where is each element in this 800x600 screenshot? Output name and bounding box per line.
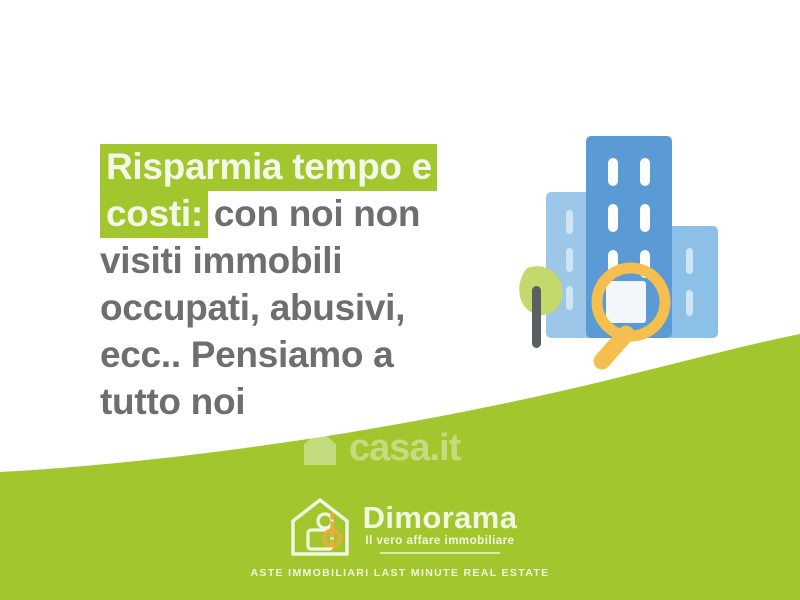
casa-it-watermark-text: casa.it: [349, 429, 460, 467]
promo-banner: Risparmia tempo e costi:con noi non visi…: [0, 0, 800, 600]
brand-subtitle: ASTE IMMOBILIARI LAST MINUTE REAL ESTATE: [251, 567, 550, 579]
headline-line-5: ecc.. Pensiamo a: [100, 331, 520, 378]
dimorama-logo: Dimorama Il vero affare immobiliare ASTE…: [0, 494, 800, 579]
headline-highlight-2: costi:: [100, 191, 208, 238]
brand-tagline: Il vero affare immobiliare: [365, 535, 514, 548]
headline-highlight-1: Risparmia tempo e: [100, 144, 437, 191]
casa-it-watermark: casa.it: [300, 428, 460, 468]
headline-plain-2: con noi non: [214, 193, 420, 234]
logo-wordmark: Dimorama Il vero affare immobiliare: [363, 502, 518, 553]
headline-line-4: occupati, abusivi,: [100, 284, 520, 331]
headline: Risparmia tempo e costi:con noi non visi…: [100, 143, 520, 425]
house-icon: [300, 428, 340, 468]
headline-line-2: costi:con noi non: [100, 190, 520, 237]
headline-line-6: tutto noi: [100, 378, 520, 425]
buildings-magnifier-tree-illustration: [498, 118, 784, 386]
building-right: [666, 226, 718, 338]
logo-divider: [380, 552, 500, 554]
logo-row: Dimorama Il vero affare immobiliare: [283, 494, 518, 560]
house-outline-icon: [283, 494, 357, 560]
brand-name: Dimorama: [363, 502, 518, 534]
headline-line-3: visiti immobili: [100, 237, 520, 284]
headline-line-1: Risparmia tempo e: [100, 143, 520, 190]
